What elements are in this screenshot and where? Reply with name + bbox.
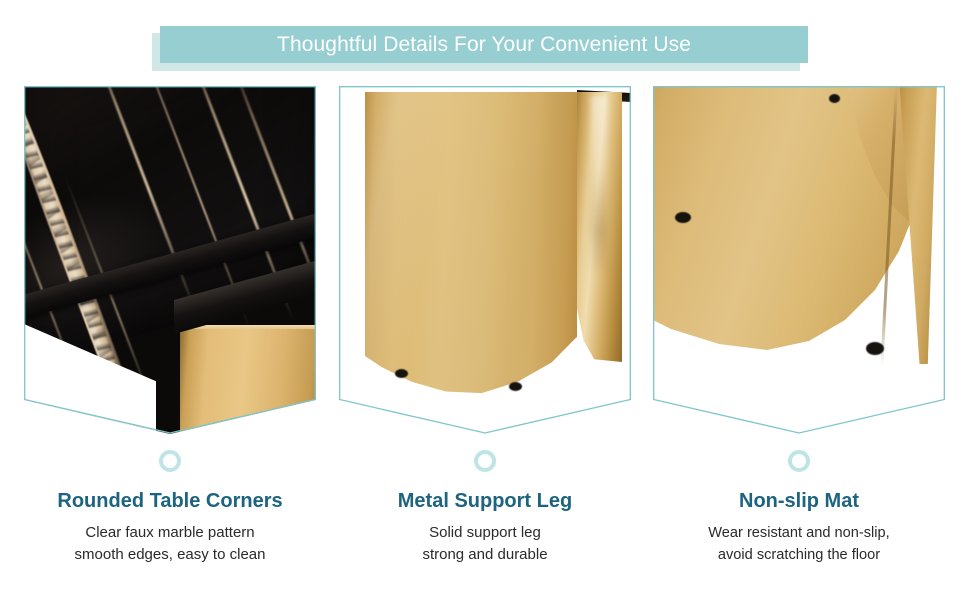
image-metal-support-leg <box>339 86 631 434</box>
feature-title: Metal Support Leg <box>339 488 631 514</box>
photo-clip-1 <box>24 86 316 434</box>
image-rounded-table-corner <box>24 86 316 434</box>
feature-desc-line: Solid support leg <box>339 522 631 544</box>
ring-marker-icon <box>159 450 181 472</box>
marker-row-2 <box>339 434 631 488</box>
ring-marker-icon <box>788 450 810 472</box>
feature-title: Non-slip Mat <box>653 488 945 514</box>
photo-clip-2 <box>339 86 631 434</box>
caption-1: Rounded Table Corners Clear faux marble … <box>24 488 316 566</box>
photo-clip-3 <box>653 86 945 434</box>
photo-frame-3 <box>653 86 945 434</box>
caption-2: Metal Support Leg Solid support leg stro… <box>339 488 631 566</box>
gold-leg-below-top <box>180 329 316 434</box>
header-banner: Thoughtful Details For Your Convenient U… <box>0 0 970 90</box>
caption-3: Non-slip Mat Wear resistant and non-slip… <box>653 488 945 566</box>
feature-card-metal-support-leg: Metal Support Leg Solid support leg stro… <box>339 86 631 600</box>
leg-front-sheen <box>365 92 577 414</box>
feature-card-rounded-table-corners: Rounded Table Corners Clear faux marble … <box>24 86 316 600</box>
leg-side-reflection <box>591 96 607 276</box>
marker-row-3 <box>653 434 945 488</box>
feature-columns: Rounded Table Corners Clear faux marble … <box>0 86 970 600</box>
non-slip-foot <box>675 212 691 223</box>
non-slip-foot <box>829 94 840 103</box>
feature-desc-line: strong and durable <box>339 544 631 566</box>
feature-card-non-slip-mat: Non-slip Mat Wear resistant and non-slip… <box>653 86 945 600</box>
feature-desc-line: smooth edges, easy to clean <box>24 544 316 566</box>
page-title: Thoughtful Details For Your Convenient U… <box>160 26 808 63</box>
feature-desc-line: Clear faux marble pattern <box>24 522 316 544</box>
non-slip-foot <box>395 369 408 378</box>
photo-frame-2 <box>339 86 631 434</box>
ring-marker-icon <box>474 450 496 472</box>
feature-title: Rounded Table Corners <box>24 488 316 514</box>
photo-frame-1 <box>24 86 316 434</box>
feature-desc-line: Wear resistant and non-slip, <box>653 522 945 544</box>
feature-desc-line: avoid scratching the floor <box>653 544 945 566</box>
marker-row-1 <box>24 434 316 488</box>
non-slip-foot <box>509 382 522 391</box>
non-slip-foot <box>866 342 884 355</box>
image-non-slip-mat <box>653 86 945 434</box>
